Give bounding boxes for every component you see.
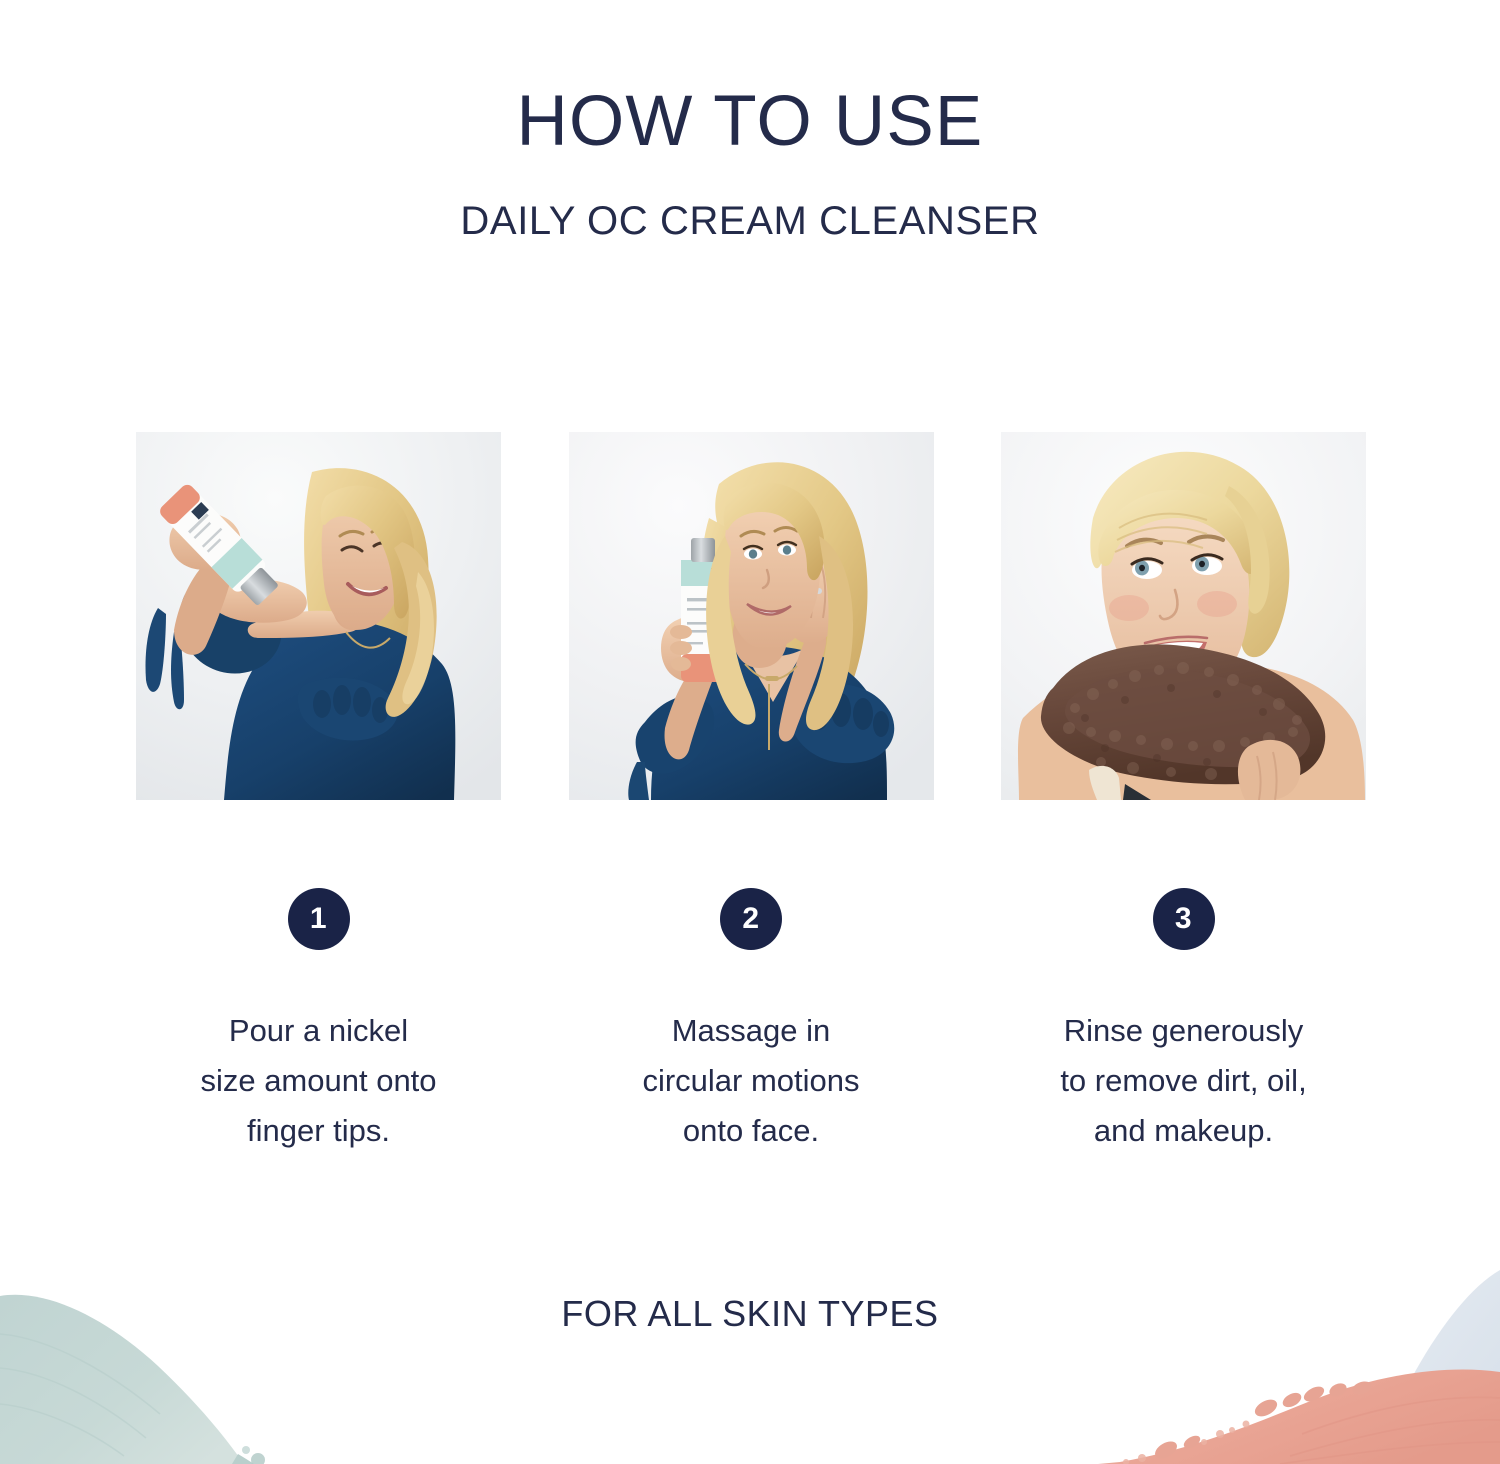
step-2: 2 Massage in circular motions onto face. bbox=[569, 432, 934, 1157]
photo-pour-illustration bbox=[136, 432, 501, 800]
step-3-photo bbox=[1001, 432, 1366, 800]
step-3: 3 Rinse generously to remove dirt, oil, … bbox=[1001, 432, 1366, 1157]
footer-note: FOR ALL SKIN TYPES bbox=[0, 1293, 1500, 1335]
photo-towel-illustration bbox=[1001, 432, 1366, 800]
header: HOW TO USE DAILY OC CREAM CLEANSER bbox=[0, 86, 1500, 241]
step-1: 1 Pour a nickel size amount onto finger … bbox=[136, 432, 501, 1157]
step-1-number-badge: 1 bbox=[288, 888, 350, 950]
step-3-caption: Rinse generously to remove dirt, oil, an… bbox=[984, 1006, 1384, 1157]
step-1-caption: Pour a nickel size amount onto finger ti… bbox=[119, 1006, 519, 1157]
page-subtitle: DAILY OC CREAM CLEANSER bbox=[0, 157, 1500, 241]
page-title: HOW TO USE bbox=[0, 86, 1500, 157]
step-1-photo bbox=[136, 432, 501, 800]
step-2-caption: Massage in circular motions onto face. bbox=[551, 1006, 951, 1157]
step-2-photo bbox=[569, 432, 934, 800]
step-3-number-badge: 3 bbox=[1153, 888, 1215, 950]
steps-container: 1 Pour a nickel size amount onto finger … bbox=[136, 432, 1366, 1157]
photo-massage-illustration bbox=[569, 432, 934, 800]
step-2-number-badge: 2 bbox=[720, 888, 782, 950]
poster-root: HOW TO USE DAILY OC CREAM CLEANSER bbox=[0, 0, 1500, 1464]
